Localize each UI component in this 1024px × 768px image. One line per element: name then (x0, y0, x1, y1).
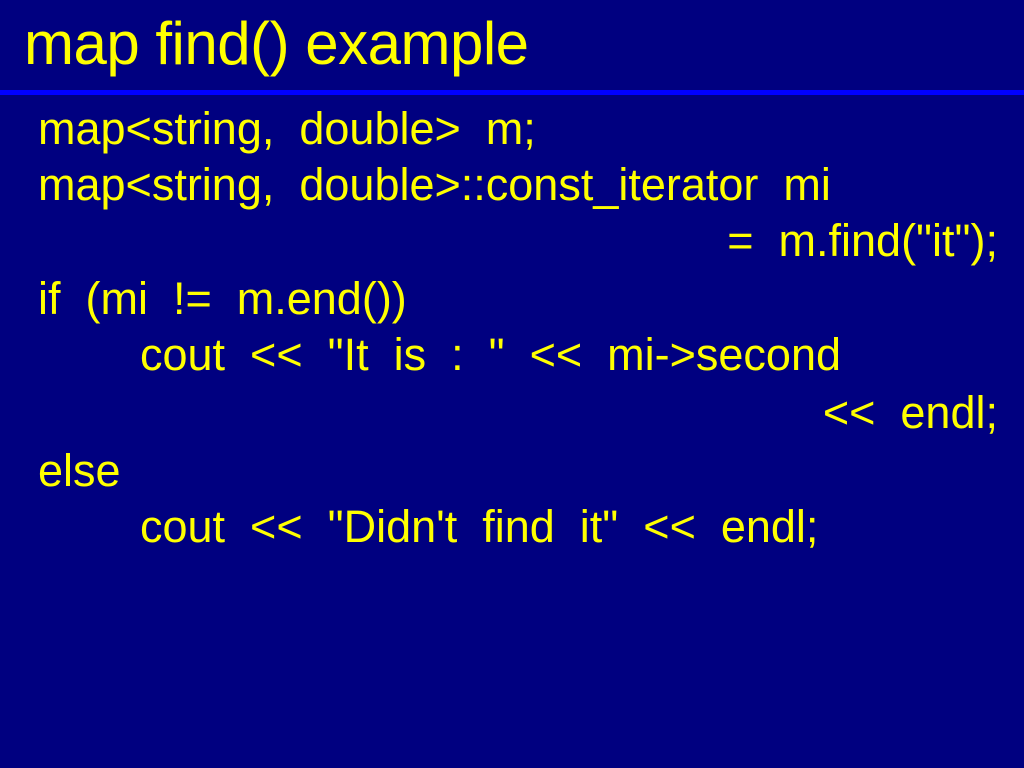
code-line: else (38, 443, 998, 499)
code-line: map<string, double> m; (38, 101, 998, 157)
code-line: << endl; (38, 385, 998, 441)
title-divider (0, 90, 1024, 95)
code-line: cout << "It is : " << mi->second (140, 327, 998, 383)
code-line: if (mi != m.end()) (38, 271, 998, 327)
code-line: = m.find("it"); (38, 213, 998, 269)
code-block: map<string, double> m; map<string, doubl… (0, 101, 1024, 761)
page-title: map find() example (24, 8, 529, 80)
title-bar: map find() example (0, 0, 1024, 92)
code-line: map<string, double>::const_iterator mi (38, 157, 998, 213)
code-line: cout << "Didn't find it" << endl; (140, 499, 998, 555)
slide: map find() example map<string, double> m… (0, 0, 1024, 768)
